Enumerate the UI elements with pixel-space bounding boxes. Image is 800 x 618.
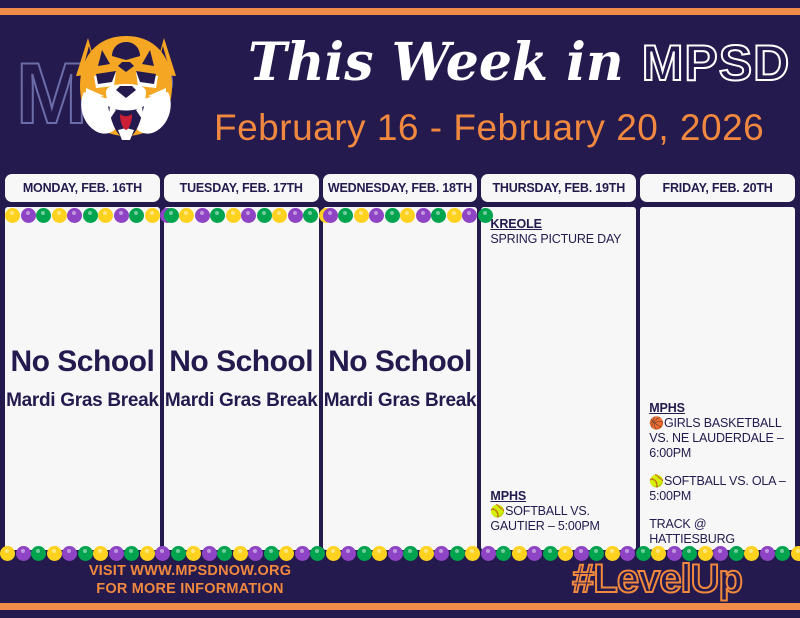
bead [357, 546, 372, 561]
bead [760, 546, 775, 561]
day-header-3[interactable]: WEDNESDAY, FEB. 18TH [323, 174, 478, 202]
events-middle: MPHS🏀GIRLS BASKETBALL VS. NE LAUDERDALE … [649, 401, 787, 550]
bead [419, 546, 434, 561]
day-content: No SchoolMardi Gras Break [323, 207, 478, 550]
bead [31, 546, 46, 561]
no-school-notice: No SchoolMardi Gras Break [5, 345, 160, 413]
softball-icon: 🥎 [649, 474, 664, 488]
bead [403, 546, 418, 561]
day-header-5[interactable]: FRIDAY, FEB. 20TH [640, 174, 795, 202]
no-school-notice: No SchoolMardi Gras Break [323, 345, 478, 413]
bead [155, 546, 170, 561]
day-column: WEDNESDAY, FEB. 18THNo SchoolMardi Gras … [323, 174, 478, 550]
hashtag-levelup: #LevelUp [572, 556, 742, 602]
bead [310, 546, 325, 561]
tiger-head-mascot-icon [68, 30, 184, 148]
event-school-name: KREOLE [490, 217, 628, 232]
event-line: 🏀GIRLS BASKETBALL VS. NE LAUDERDALE – 6:… [649, 416, 787, 461]
bead [16, 546, 31, 561]
no-school-subline: Mardi Gras Break [323, 389, 478, 413]
weekly-calendar-poster: MP [0, 0, 800, 618]
event-spacer [649, 461, 787, 474]
day-content: MPHS🏀GIRLS BASKETBALL VS. NE LAUDERDALE … [640, 207, 795, 550]
visit-website-text: VISIT WWW.MPSDNOW.ORG FOR MORE INFORMATI… [30, 562, 350, 598]
visit-line-1: VISIT WWW.MPSDNOW.ORG [30, 562, 350, 580]
bead [372, 546, 387, 561]
bead [527, 546, 542, 561]
bead [341, 546, 356, 561]
bead [558, 546, 573, 561]
day-column: THURSDAY, FEB. 19THKREOLESPRING PICTURE … [481, 174, 636, 550]
date-range: February 16 - February 20, 2026 [214, 106, 794, 152]
bead [279, 546, 294, 561]
day-content: No SchoolMardi Gras Break [5, 207, 160, 550]
day-header-4[interactable]: THURSDAY, FEB. 19TH [481, 174, 636, 202]
bead [78, 546, 93, 561]
no-school-subline: Mardi Gras Break [5, 389, 160, 413]
bead [217, 546, 232, 561]
day-column: TUESDAY, FEB. 17THNo SchoolMardi Gras Br… [164, 174, 319, 550]
bead [233, 546, 248, 561]
events-bottom: MPHS🥎SOFTBALL VS. GAUTIER – 5:00PM [490, 489, 628, 534]
bead [481, 546, 496, 561]
event-line: 🥎SOFTBALL VS. GAUTIER – 5:00PM [490, 504, 628, 534]
poster-title: This Week in MPSD [248, 30, 793, 98]
bead [124, 546, 139, 561]
bead [93, 546, 108, 561]
event-spacer [649, 504, 787, 517]
bead [450, 546, 465, 561]
event-school-name: MPHS [649, 401, 787, 416]
bead [140, 546, 155, 561]
bead [326, 546, 341, 561]
poster-header: MP [0, 18, 800, 166]
softball-icon: 🥎 [490, 504, 505, 518]
bead [264, 546, 279, 561]
event-school-name: MPHS [490, 489, 628, 504]
title-brand-text: MPSD [642, 35, 790, 91]
title-script-text: This Week in [248, 32, 624, 93]
bead [775, 546, 790, 561]
day-header-1[interactable]: MONDAY, FEB. 16TH [5, 174, 160, 202]
bead [109, 546, 124, 561]
bead [388, 546, 403, 561]
day-column: FRIDAY, FEB. 20THMPHS🏀GIRLS BASKETBALL V… [640, 174, 795, 550]
bead [744, 546, 759, 561]
no-school-headline: No School [323, 345, 478, 379]
event-line: SPRING PICTURE DAY [490, 232, 628, 247]
bead [248, 546, 263, 561]
day-content: No SchoolMardi Gras Break [164, 207, 319, 550]
bead [62, 546, 77, 561]
no-school-headline: No School [5, 345, 160, 379]
bead [465, 546, 480, 561]
week-grid: MONDAY, FEB. 16THNo SchoolMardi Gras Bre… [5, 174, 795, 550]
event-line: 🥎SOFTBALL VS. OLA – 5:00PM [649, 474, 787, 504]
bead [496, 546, 511, 561]
bead [47, 546, 62, 561]
bead [434, 546, 449, 561]
bead [512, 546, 527, 561]
bead [202, 546, 217, 561]
bead [295, 546, 310, 561]
bead [543, 546, 558, 561]
top-accent-stripe [0, 8, 800, 15]
bead [186, 546, 201, 561]
bottom-accent-stripe [0, 603, 800, 610]
no-school-subline: Mardi Gras Break [164, 389, 319, 413]
day-column: MONDAY, FEB. 16THNo SchoolMardi Gras Bre… [5, 174, 160, 550]
bead [171, 546, 186, 561]
day-header-2[interactable]: TUESDAY, FEB. 17TH [164, 174, 319, 202]
bead [0, 546, 15, 561]
basketball-icon: 🏀 [649, 416, 664, 430]
no-school-notice: No SchoolMardi Gras Break [164, 345, 319, 413]
no-school-headline: No School [164, 345, 319, 379]
visit-line-2: FOR MORE INFORMATION [30, 580, 350, 598]
day-content: KREOLESPRING PICTURE DAYMPHS🥎SOFTBALL VS… [481, 207, 636, 550]
events-top: KREOLESPRING PICTURE DAY [490, 217, 628, 247]
bead [791, 546, 800, 561]
district-logo: MP [10, 30, 232, 148]
